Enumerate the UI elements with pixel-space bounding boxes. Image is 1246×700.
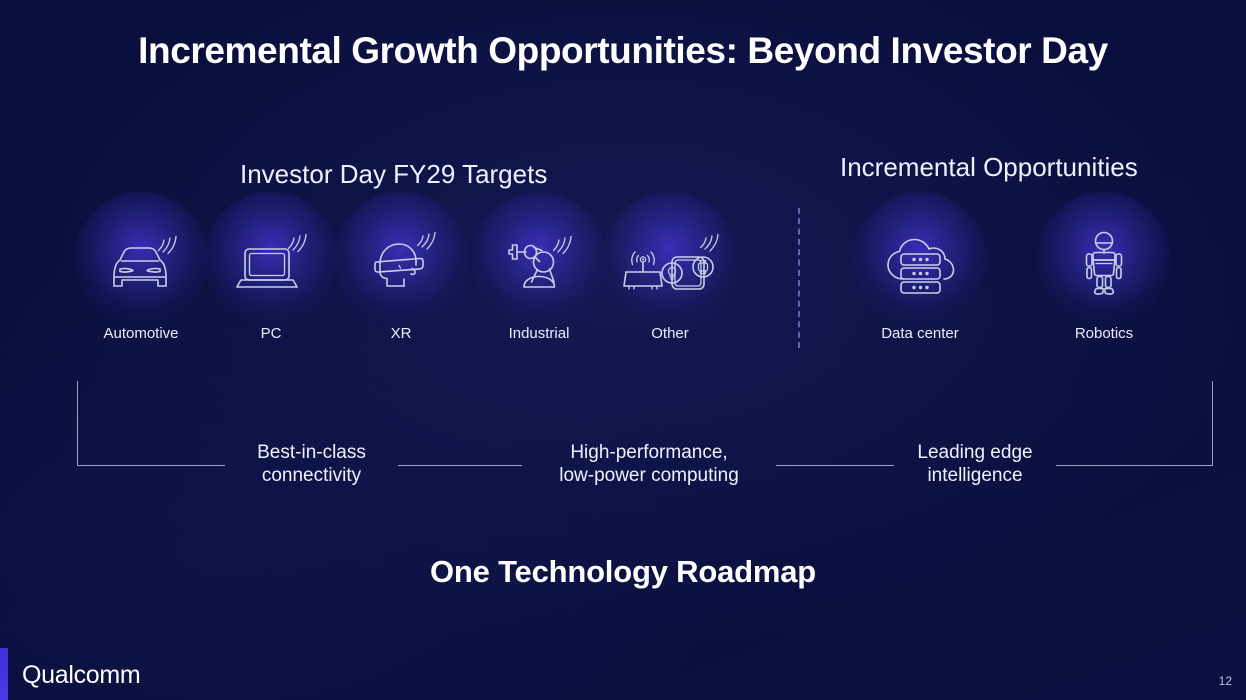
page-number: 12	[1219, 674, 1232, 688]
capability-computing: High-performance, low-power computing	[527, 441, 771, 487]
bottom-heading: One Technology Roadmap	[0, 554, 1246, 590]
robot-arm-signal-icon	[472, 205, 606, 323]
item-automotive[interactable]: Automotive	[74, 205, 208, 355]
bracket-segment	[776, 465, 894, 466]
slide-canvas: Incremental Growth Opportunities: Beyond…	[0, 0, 1246, 700]
capability-line2: low-power computing	[559, 465, 739, 486]
item-label: Other	[651, 325, 689, 342]
router-iot-devices-signal-icon	[600, 205, 740, 323]
bracket-left-tick	[77, 381, 78, 465]
humanoid-robot-icon	[1037, 205, 1171, 323]
bracket-segment	[77, 465, 225, 466]
car-signal-icon	[74, 205, 208, 323]
bracket-right-tick	[1212, 381, 1213, 465]
item-label: XR	[391, 325, 412, 342]
qualcomm-logo: Qualcomm	[22, 661, 140, 690]
item-label: PC	[261, 325, 282, 342]
item-robotics[interactable]: Robotics	[1037, 205, 1171, 355]
capability-connectivity: Best-in-class connectivity	[230, 441, 393, 487]
item-label: Automotive	[103, 325, 178, 342]
bracket-segment	[398, 465, 522, 466]
item-other[interactable]: Other	[600, 205, 740, 355]
capability-line1: Leading edge	[917, 442, 1032, 463]
laptop-signal-icon	[204, 205, 338, 323]
item-xr[interactable]: XR	[334, 205, 468, 355]
capability-line1: High-performance,	[570, 442, 727, 463]
item-label: Industrial	[509, 325, 570, 342]
page-title: Incremental Growth Opportunities: Beyond…	[0, 30, 1246, 72]
item-industrial[interactable]: Industrial	[472, 205, 606, 355]
capability-line1: Best-in-class	[257, 442, 366, 463]
brand-accent-bar	[0, 648, 8, 700]
icon-row: Automotive PC	[0, 205, 1246, 355]
bracket-segment	[1056, 465, 1213, 466]
section-heading-incremental: Incremental Opportunities	[840, 152, 1138, 183]
capability-line2: intelligence	[927, 465, 1022, 486]
capability-intelligence: Leading edge intelligence	[899, 441, 1051, 487]
item-label: Robotics	[1075, 325, 1133, 342]
capability-line2: connectivity	[262, 465, 361, 486]
item-data-center[interactable]: Data center	[853, 205, 987, 355]
xr-headset-head-signal-icon	[334, 205, 468, 323]
item-pc[interactable]: PC	[204, 205, 338, 355]
cloud-server-racks-icon	[853, 205, 987, 323]
item-label: Data center	[881, 325, 959, 342]
capability-bracket: Best-in-class connectivity High-performa…	[0, 375, 1246, 485]
section-heading-investor-day: Investor Day FY29 Targets	[240, 159, 547, 190]
